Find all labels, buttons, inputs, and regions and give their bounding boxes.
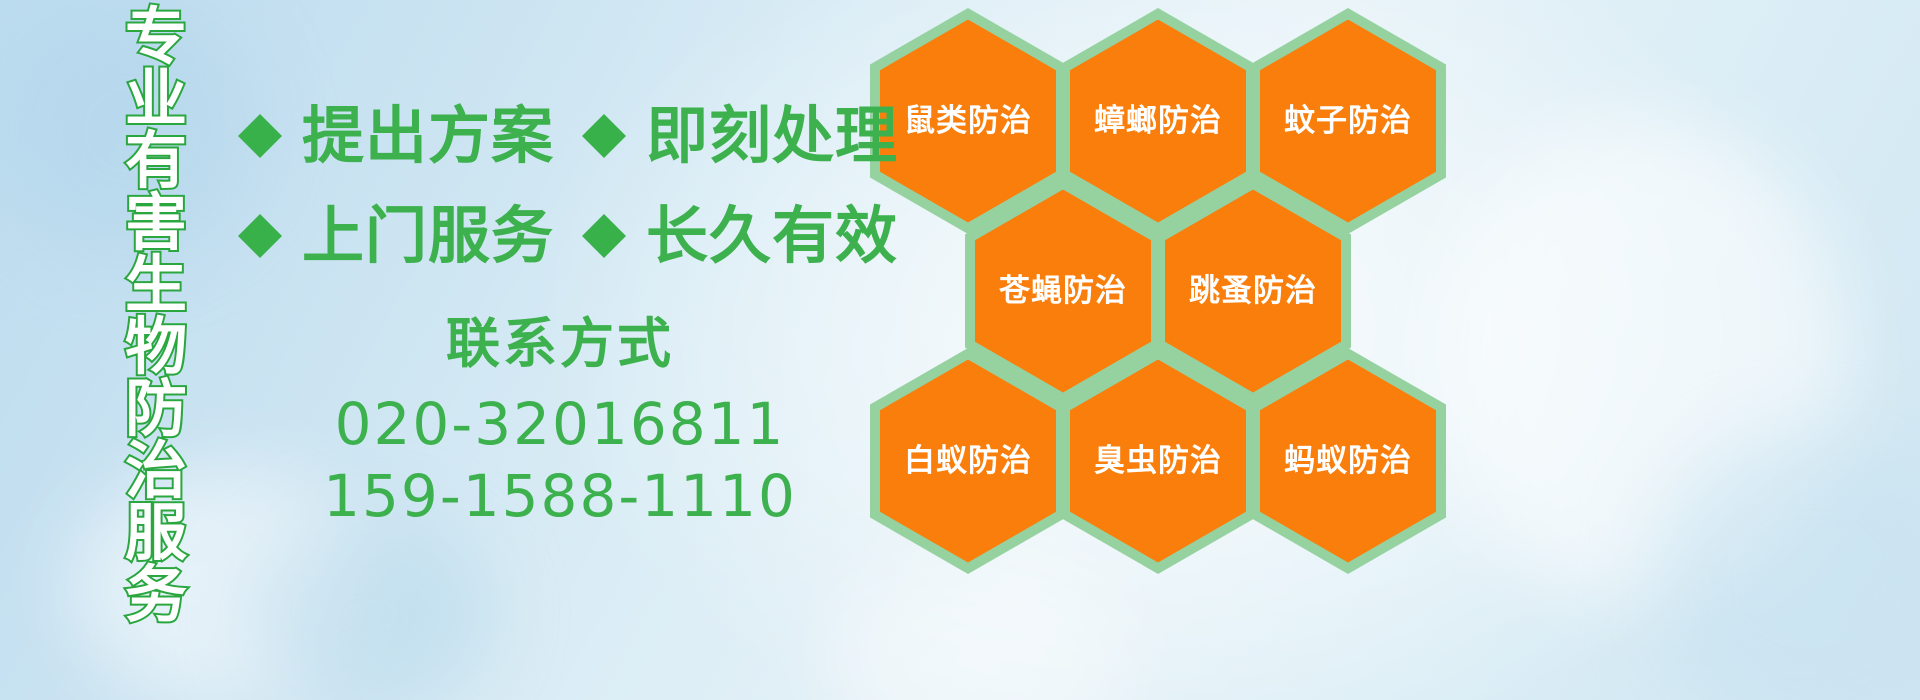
hex-inner: 白蚁防治 [880, 360, 1056, 563]
service-label: 苍蝇防治 [999, 274, 1127, 308]
contact-block: 联系方式 020-32016811 159-1588-1110 [300, 312, 820, 532]
feature-item-propose-plan: 提出方案 [232, 105, 576, 167]
vertical-headline-char: 治 [125, 440, 187, 502]
service-label: 臭虫防治 [1094, 444, 1222, 478]
vertical-headline-char: 有 [125, 130, 187, 192]
feature-label: 提出方案 [302, 105, 554, 167]
feature-label: 长久有效 [646, 205, 898, 267]
hex-inner: 蚊子防治 [1260, 20, 1436, 223]
service-label: 蚂蚁防治 [1284, 444, 1412, 478]
contact-heading: 联系方式 [300, 312, 820, 376]
hex-inner: 蟑螂防治 [1070, 20, 1246, 223]
service-label: 蚊子防治 [1284, 104, 1412, 138]
feature-row: 上门服务 长久有效 [232, 186, 920, 286]
vertical-headline-char: 防 [125, 378, 187, 440]
service-label: 蟑螂防治 [1094, 104, 1222, 138]
background-blob [1650, 430, 1920, 700]
vertical-headline-char: 务 [125, 564, 187, 626]
hex-inner: 跳蚤防治 [1165, 190, 1341, 393]
feature-label: 上门服务 [302, 205, 554, 267]
phone-number-landline[interactable]: 020-32016811 [300, 388, 820, 460]
background-blob [1430, 120, 1850, 600]
vertical-headline-char: 业 [125, 68, 187, 130]
feature-item-immediate-handling: 即刻处理 [576, 105, 920, 167]
pest-control-banner: 专 业 有 害 生 物 防 治 服 务 提出方案 即刻处理 [0, 0, 1920, 700]
hex-inner: 苍蝇防治 [975, 190, 1151, 393]
feature-row: 提出方案 即刻处理 [232, 86, 920, 186]
diamond-bullet-icon [232, 208, 288, 264]
diamond-bullet-icon [576, 208, 632, 264]
phone-number-mobile[interactable]: 159-1588-1110 [300, 460, 820, 532]
hex-inner: 臭虫防治 [1070, 360, 1246, 563]
vertical-headline-char: 物 [125, 316, 187, 378]
background-blob [250, 520, 490, 700]
feature-list: 提出方案 即刻处理 上门服务 长久有效 [232, 86, 920, 286]
service-label: 鼠类防治 [904, 104, 1032, 138]
service-label: 白蚁防治 [904, 444, 1032, 478]
vertical-headline: 专 业 有 害 生 物 防 治 服 务 [110, 6, 202, 566]
background-blob [830, 560, 1130, 700]
vertical-headline-char: 生 [125, 254, 187, 316]
vertical-headline-char: 害 [125, 192, 187, 254]
feature-item-onsite-service: 上门服务 [232, 205, 576, 267]
vertical-headline-char: 专 [125, 6, 187, 68]
service-honeycomb: 鼠类防治 蟑螂防治 蚊子防治 苍蝇防治 跳蚤防治 白蚁防治 [862, 0, 1462, 560]
feature-label: 即刻处理 [646, 105, 898, 167]
hex-inner: 蚂蚁防治 [1260, 360, 1436, 563]
feature-item-long-lasting: 长久有效 [576, 205, 920, 267]
service-label: 跳蚤防治 [1189, 274, 1317, 308]
diamond-bullet-icon [576, 108, 632, 164]
vertical-headline-char: 服 [125, 502, 187, 564]
diamond-bullet-icon [232, 108, 288, 164]
